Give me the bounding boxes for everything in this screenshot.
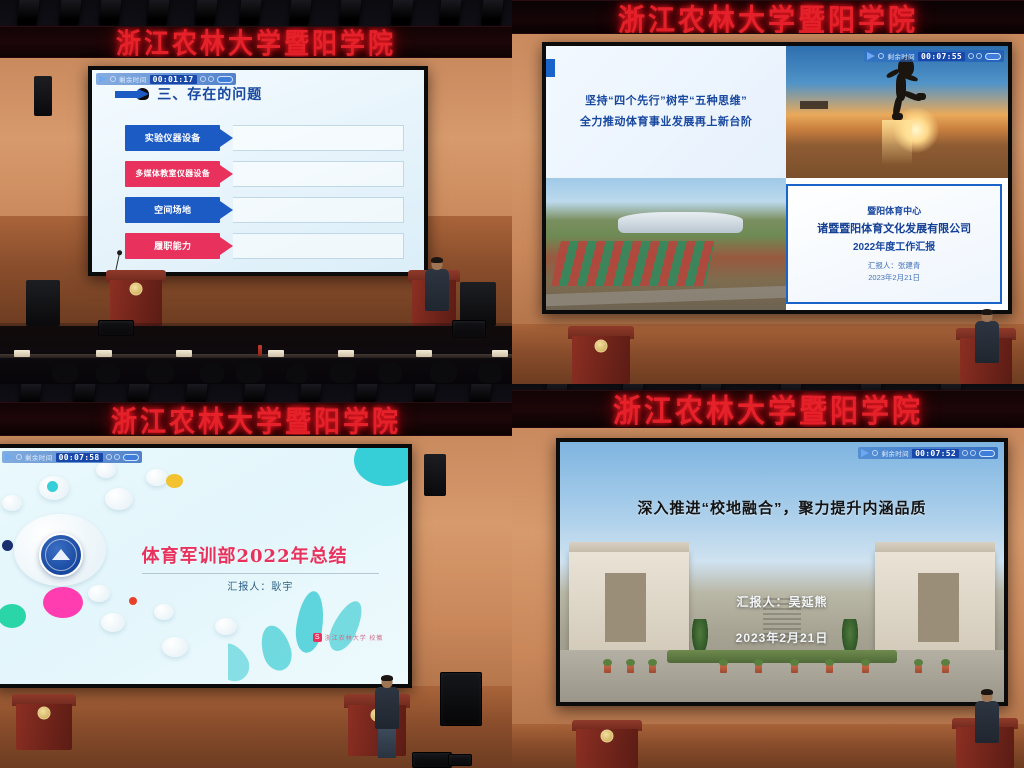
divider: [142, 573, 380, 574]
arrow-right-icon: [220, 237, 233, 255]
item-blank-bar: [233, 125, 404, 151]
accent-tab: [546, 59, 555, 77]
stop-icon[interactable]: [208, 76, 214, 82]
lotus-petal: [292, 589, 326, 654]
projection-screen: 剩余时间 00:01:17 三、存在的问题 实验仪: [88, 66, 428, 276]
podium-left: [576, 720, 638, 768]
audience-head: [200, 363, 224, 383]
audience-head: [286, 364, 308, 383]
university-emblem-icon: [130, 283, 143, 296]
audience-head: [478, 363, 502, 383]
list-item: 履职能力: [125, 233, 404, 259]
panel-bottom-right: 浙江农林大学暨阳学院 剩余时间 00:07:52: [512, 384, 1024, 768]
decorative-bubble: [105, 488, 133, 510]
planter-pot: [755, 664, 762, 673]
led-banner-text: 浙江农林大学暨阳学院: [618, 0, 918, 34]
led-banner: 浙江农林大学暨阳学院: [512, 390, 1024, 428]
audience-head: [146, 360, 174, 383]
timer-label: 剩余时间: [25, 452, 53, 462]
audience-head: [430, 360, 457, 383]
audience-head: [52, 361, 78, 383]
podium-left: [572, 326, 630, 384]
slide-title-block: 体育军训部2022年总结 汇报人：耿宇: [142, 542, 380, 593]
arrow-right-icon: [220, 165, 233, 183]
tennis-courts: [551, 241, 714, 286]
countdown-timer: 剩余时间 00:07:55: [864, 50, 1004, 62]
university-emblem-icon: [595, 339, 608, 352]
clock-icon: [878, 53, 884, 59]
clock-icon: [16, 454, 22, 460]
play-triangle-icon: [861, 449, 869, 457]
decorative-bubble: [2, 495, 22, 511]
lotus-petal: [228, 638, 256, 684]
stop-icon[interactable]: [114, 454, 120, 460]
floor-monitor: [448, 754, 472, 766]
slide-heading-row: 三、存在的问题: [115, 84, 262, 104]
speaker-person: [974, 310, 1000, 362]
timer-value: 00:07:52: [912, 449, 959, 458]
lotus-petal: [256, 622, 296, 674]
name-card: [492, 350, 508, 357]
item-chip: 履职能力: [125, 233, 220, 259]
decorative-bubble: [146, 469, 168, 486]
slide-title: 深入推进“校地融合”，聚力提升内涵品质: [560, 497, 1004, 518]
play-triangle-icon: [867, 52, 875, 60]
stage-light-icon: [238, 0, 261, 28]
sports-center-aerial-photo: [546, 178, 786, 310]
slide-presenter: 汇报人：吴延熊: [560, 593, 1004, 610]
timer-value: 00:07:55: [918, 52, 965, 61]
planter-pot: [604, 664, 611, 673]
wall-speaker: [34, 76, 52, 116]
panel-top-left: 浙江农林大学暨阳学院 剩余时间 00:01:17: [0, 0, 512, 384]
list-item: 多媒体教室仪器设备: [125, 161, 404, 187]
item-chip: 多媒体教室仪器设备: [125, 161, 220, 187]
led-banner-text: 浙江农林大学暨阳学院: [111, 402, 401, 436]
university-seal-logo: [39, 533, 83, 577]
timer-controls: [106, 454, 120, 460]
projection-screen: 坚持“四个先行”树牢“五种思维” 全力推动体育事业发展再上新台阶 剩余时间 00…: [542, 42, 1012, 314]
timer-value: 00:07:58: [56, 453, 103, 462]
timer-toggle[interactable]: [217, 76, 233, 83]
timer-controls: [968, 53, 982, 59]
slide-headline-block: 坚持“四个先行”树牢“五种思维” 全力推动体育事业发展再上新台阶: [546, 46, 786, 178]
water-bottle: [258, 345, 262, 356]
decorative-bubble: [166, 474, 183, 488]
arrow-right-icon: [220, 129, 233, 147]
timer-label: 剩余时间: [881, 448, 909, 458]
slide-existing-problems: 剩余时间 00:01:17 三、存在的问题 实验仪: [92, 70, 424, 272]
item-blank-bar: [233, 161, 404, 187]
item-chip: 空间场地: [125, 197, 220, 223]
name-card: [96, 350, 112, 357]
name-card: [268, 350, 284, 357]
pause-icon[interactable]: [968, 53, 974, 59]
item-blank-bar: [233, 197, 404, 223]
stage-light-icon: [58, 0, 81, 28]
conference-table: [0, 354, 512, 358]
play-triangle-icon: [5, 453, 13, 461]
pause-icon[interactable]: [106, 454, 112, 460]
report-info-card: 暨阳体育中心 诸暨暨阳体育文化发展有限公司 2022年度工作汇报 汇报人：张建青…: [786, 184, 1002, 304]
problem-list: 实验仪器设备 多媒体教室仪器设备 空间场地: [125, 125, 404, 269]
timer-value: 00:01:17: [150, 75, 197, 84]
timer-toggle[interactable]: [979, 450, 995, 457]
timer-label: 剩余时间: [887, 51, 915, 61]
corner-logo: S 浙江农林大学 校徽: [313, 633, 384, 642]
stop-icon[interactable]: [976, 53, 982, 59]
panel-bottom-left: 浙江农林大学暨阳学院 剩余时间 00:07:58: [0, 384, 512, 768]
planter-pot: [627, 664, 634, 673]
card-presenter: 汇报人：张建青: [868, 260, 921, 272]
card-date: 2023年2月21日: [868, 272, 920, 284]
university-emblem-icon: [38, 707, 51, 720]
slide-campus-integration: 剩余时间 00:07:52: [560, 442, 1004, 702]
timer-label: 剩余时间: [119, 74, 147, 84]
led-banner-text: 浙江农林大学暨阳学院: [116, 26, 396, 58]
item-chip: 实验仪器设备: [125, 125, 220, 151]
slide-jiyang-sports-center: 坚持“四个先行”树牢“五种思维” 全力推动体育事业发展再上新台阶 剩余时间 00…: [546, 46, 1008, 310]
stadium-building: [618, 212, 743, 233]
stage-light-icon: [288, 0, 311, 28]
decorative-bubble: [101, 613, 125, 632]
planter-pot: [862, 664, 869, 673]
info-card-wrap: 暨阳体育中心 诸暨暨阳体育文化发展有限公司 2022年度工作汇报 汇报人：张建青…: [786, 178, 1008, 310]
university-emblem-icon: [601, 730, 614, 743]
led-banner-text: 浙江农林大学暨阳学院: [613, 390, 923, 428]
name-card: [416, 350, 432, 357]
planter-pot: [915, 664, 922, 673]
planter-pot: [649, 664, 656, 673]
stage-light-icon: [338, 0, 361, 28]
led-banner: 浙江农林大学暨阳学院: [0, 26, 512, 58]
decorative-bubble: [96, 462, 116, 478]
floor-speaker: [440, 672, 482, 726]
audience-area: [0, 323, 512, 384]
wall-speaker: [424, 454, 446, 496]
planter-pot: [826, 664, 833, 673]
arrow-right-icon: [220, 201, 233, 219]
speaker-person: [424, 258, 450, 310]
lotus-petal: [324, 596, 369, 655]
stage-light-icon: [438, 0, 461, 28]
stage-light-icon: [98, 0, 121, 28]
pause-icon[interactable]: [200, 76, 206, 82]
planter-pot: [942, 664, 949, 673]
clock-icon: [110, 76, 116, 82]
play-triangle-icon: [99, 75, 107, 83]
road: [546, 286, 786, 306]
audience-head: [378, 362, 402, 383]
timer-toggle[interactable]: [985, 53, 1001, 60]
name-card: [14, 350, 30, 357]
slide-title: 体育军训部2022年总结: [142, 542, 380, 568]
decorative-bubble: [88, 585, 110, 602]
stop-icon[interactable]: [970, 450, 976, 456]
logo-mark-icon: S: [313, 633, 322, 642]
runner-silhouette: [884, 57, 926, 147]
countdown-timer: 剩余时间 00:07:52: [858, 447, 998, 459]
projection-screen: 剩余时间 00:07:52: [556, 438, 1008, 706]
countdown-timer: 剩余时间 00:01:17: [96, 73, 236, 85]
list-item: 空间场地: [125, 197, 404, 223]
stage-light-icon: [194, 0, 217, 28]
photo-collage-grid: 浙江农林大学暨阳学院 剩余时间 00:01:17: [0, 0, 1024, 768]
list-item: 实验仪器设备: [125, 125, 404, 151]
led-banner: 浙江农林大学暨阳学院: [512, 0, 1024, 34]
beach-runner-photo: 剩余时间 00:07:55: [786, 46, 1008, 178]
decorative-bubble: [43, 587, 83, 618]
slide-presenter: 汇报人：耿宇: [142, 578, 380, 593]
pause-icon[interactable]: [962, 450, 968, 456]
stage-light-icon: [390, 0, 413, 28]
timer-controls: [200, 76, 214, 82]
panel-top-right: 浙江农林大学暨阳学院 坚持“四个先行”树牢“五种思维” 全力推动体育事业发展再上…: [512, 0, 1024, 384]
card-org: 暨阳体育中心: [867, 204, 921, 217]
card-company: 诸暨暨阳体育文化发展有限公司: [817, 220, 971, 236]
decorative-bubble: [354, 448, 408, 486]
stage-light-icon: [146, 0, 169, 28]
decorative-bubble: [154, 604, 174, 620]
decorative-bubble: [0, 604, 26, 628]
item-blank-bar: [233, 233, 404, 259]
logo-text: 浙江农林大学 校徽: [325, 633, 384, 642]
headline-line-2: 全力推动体育事业发展再上新台阶: [554, 112, 778, 133]
countdown-timer: 剩余时间 00:07:58: [2, 451, 142, 463]
led-banner: 浙江农林大学暨阳学院: [0, 402, 512, 436]
timer-controls: [962, 450, 976, 456]
audience-head: [96, 363, 120, 383]
planter-pot: [791, 664, 798, 673]
pier-silhouette: [800, 101, 828, 109]
name-card: [338, 350, 354, 357]
stage-light-icon: [16, 0, 39, 28]
name-card: [176, 350, 192, 357]
decorative-bubble: [2, 540, 13, 551]
slide-pe-department-summary: 剩余时间 00:07:58: [0, 448, 408, 684]
floor-monitor: [412, 752, 452, 768]
decorative-bubble: [162, 637, 188, 657]
audience-head: [330, 361, 356, 383]
projection-screen: 剩余时间 00:07:58: [0, 444, 412, 688]
decorative-bubble: [129, 597, 137, 605]
phoenix-icon: [52, 549, 70, 560]
podium-left: [110, 270, 162, 326]
planter-pot: [720, 664, 727, 673]
slide-heading: 三、存在的问题: [157, 84, 262, 104]
wall-speaker: [26, 280, 60, 326]
speaker-person: [374, 676, 400, 760]
stage-light-icon: [480, 0, 503, 28]
clock-icon: [872, 450, 878, 456]
card-report-title: 2022年度工作汇报: [853, 238, 935, 253]
audience-head: [236, 361, 262, 383]
slide-date: 2023年2月21日: [560, 629, 1004, 646]
speaker-person: [974, 690, 1000, 742]
arrow-right-icon: [115, 88, 149, 101]
podium-left: [16, 694, 72, 750]
timer-toggle[interactable]: [123, 454, 139, 461]
headline-line-1: 坚持“四个先行”树牢“五种思维”: [554, 91, 778, 112]
